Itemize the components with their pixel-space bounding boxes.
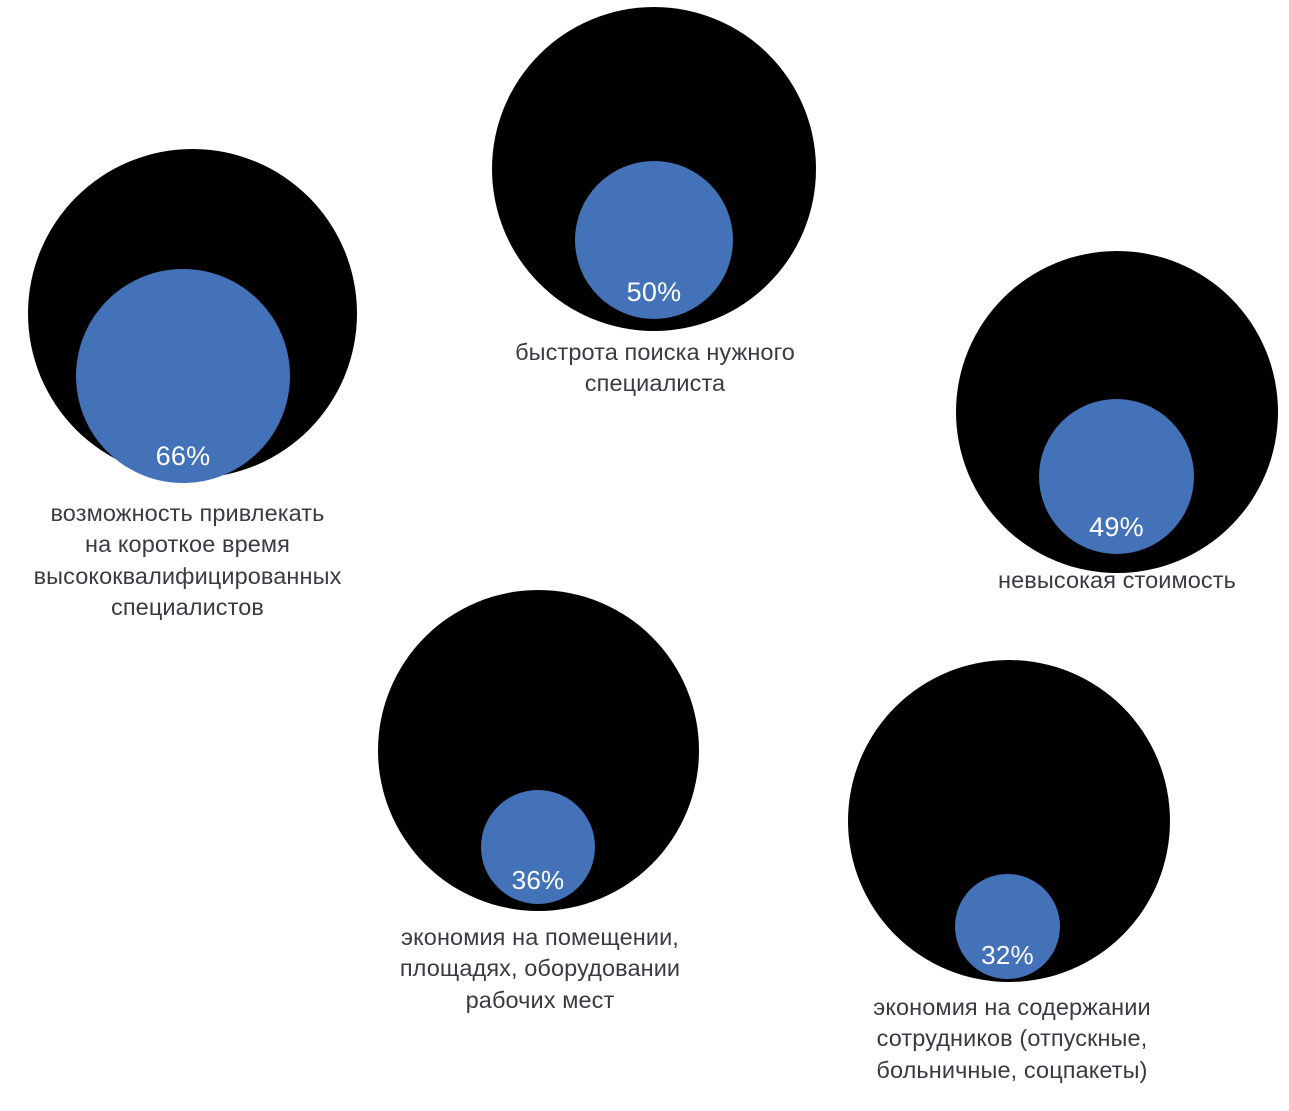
value-label-0: 66% [156,443,211,483]
inner-circle-1: 50% [575,161,733,319]
bubble-caption-3: экономия на помещении, площадях, оборудо… [355,922,725,1016]
bubble-caption-2: невысокая стоимость [948,565,1286,596]
inner-circle-2: 49% [1039,399,1194,554]
inner-circle-0: 66% [76,269,290,483]
inner-circle-3: 36% [481,790,595,904]
bubble-chart-canvas: 66% возможность привлекать на короткое в… [0,0,1289,1111]
bubble-caption-1: быстрота поиска нужного специалиста [470,337,840,400]
value-label-4: 32% [981,942,1034,979]
bubble-caption-0: возможность привлекать на короткое время… [0,498,375,623]
value-label-3: 36% [512,867,565,904]
value-label-1: 50% [627,279,682,319]
inner-circle-4: 32% [955,874,1060,979]
bubble-caption-4: экономия на содержании сотрудников (отпу… [832,992,1192,1086]
value-label-2: 49% [1089,514,1144,554]
